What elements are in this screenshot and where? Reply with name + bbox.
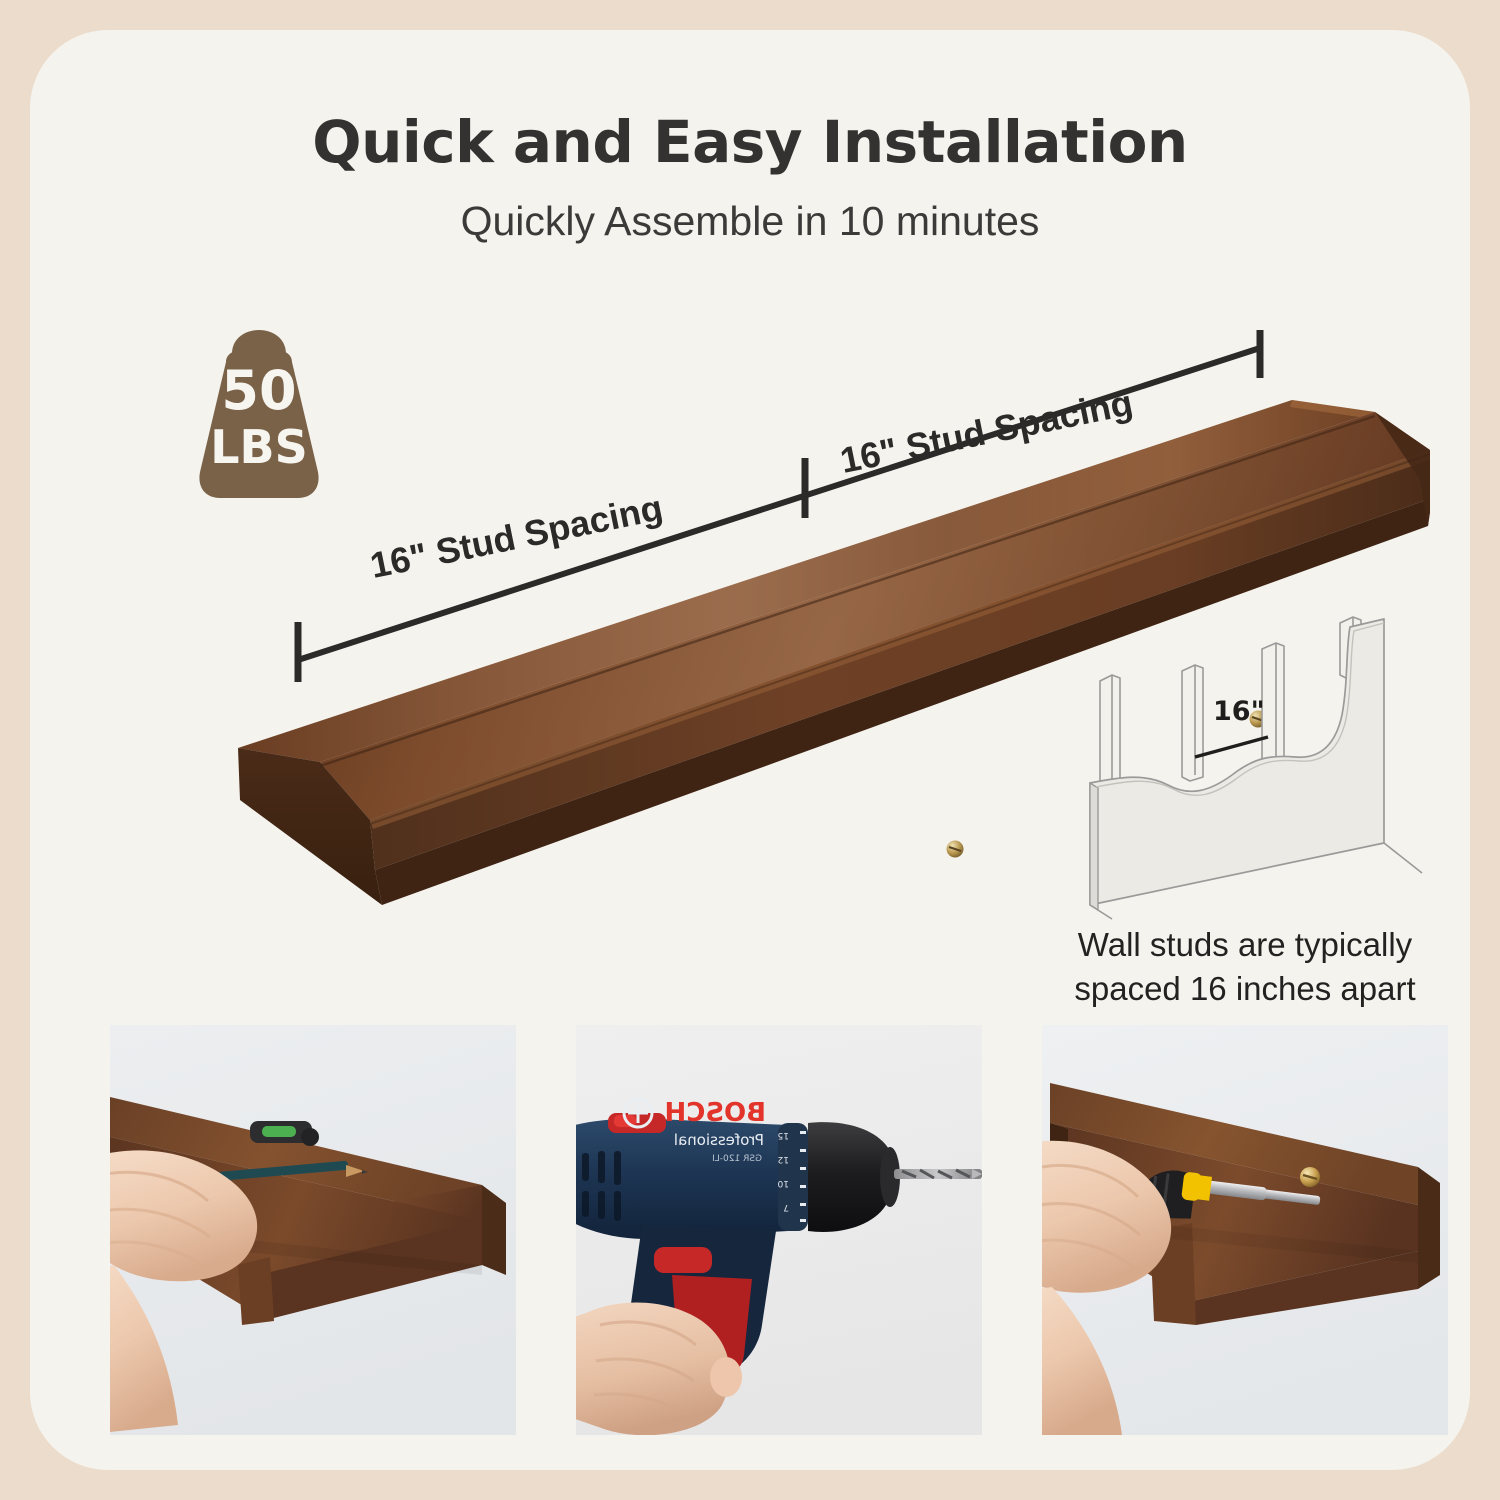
svg-text:12: 12 bbox=[778, 1154, 789, 1164]
page-subtitle: Quickly Assemble in 10 minutes bbox=[30, 198, 1470, 245]
bubble-level-icon bbox=[250, 1121, 319, 1146]
step-photo-drill-holes: BOSCH Professional GSR 120-LI 15 12 10 7 bbox=[576, 1025, 982, 1435]
svg-text:10: 10 bbox=[777, 1178, 789, 1188]
hand-pencil-level-photo bbox=[110, 1025, 516, 1435]
wall-stud-diagram: 16" bbox=[1050, 605, 1450, 935]
infographic-root: Quick and Easy Installation Quickly Asse… bbox=[0, 0, 1500, 1500]
svg-text:GSR 120-LI: GSR 120-LI bbox=[712, 1154, 762, 1164]
hand-drill-photo: BOSCH Professional GSR 120-LI 15 12 10 7 bbox=[576, 1025, 982, 1435]
step-photo-drive-screws bbox=[1042, 1025, 1448, 1435]
hand-screwdriver-photo bbox=[1042, 1025, 1448, 1435]
svg-text:7: 7 bbox=[783, 1202, 789, 1212]
drill-bit-icon bbox=[894, 1169, 982, 1179]
stud-caption-line1: Wall studs are typically bbox=[1078, 926, 1412, 963]
svg-text:Professional: Professional bbox=[674, 1131, 764, 1149]
svg-text:15: 15 bbox=[778, 1130, 789, 1140]
step-photo-mark-holes bbox=[110, 1025, 516, 1435]
shelf-screw-center bbox=[947, 841, 964, 858]
stud-diagram-caption: Wall studs are typically spaced 16 inche… bbox=[1015, 923, 1470, 1010]
stud-measure-label: 16" bbox=[1213, 696, 1265, 727]
content-card: Quick and Easy Installation Quickly Asse… bbox=[30, 30, 1470, 1470]
screw-icon bbox=[1300, 1167, 1320, 1187]
wall-stud-cutaway-icon: 16" bbox=[1050, 605, 1450, 935]
installation-steps-row: BOSCH Professional GSR 120-LI 15 12 10 7 bbox=[110, 1025, 1450, 1435]
page-title: Quick and Easy Installation bbox=[30, 108, 1470, 176]
svg-text:BOSCH: BOSCH bbox=[665, 1098, 767, 1128]
stud-caption-line2: spaced 16 inches apart bbox=[1074, 970, 1415, 1007]
